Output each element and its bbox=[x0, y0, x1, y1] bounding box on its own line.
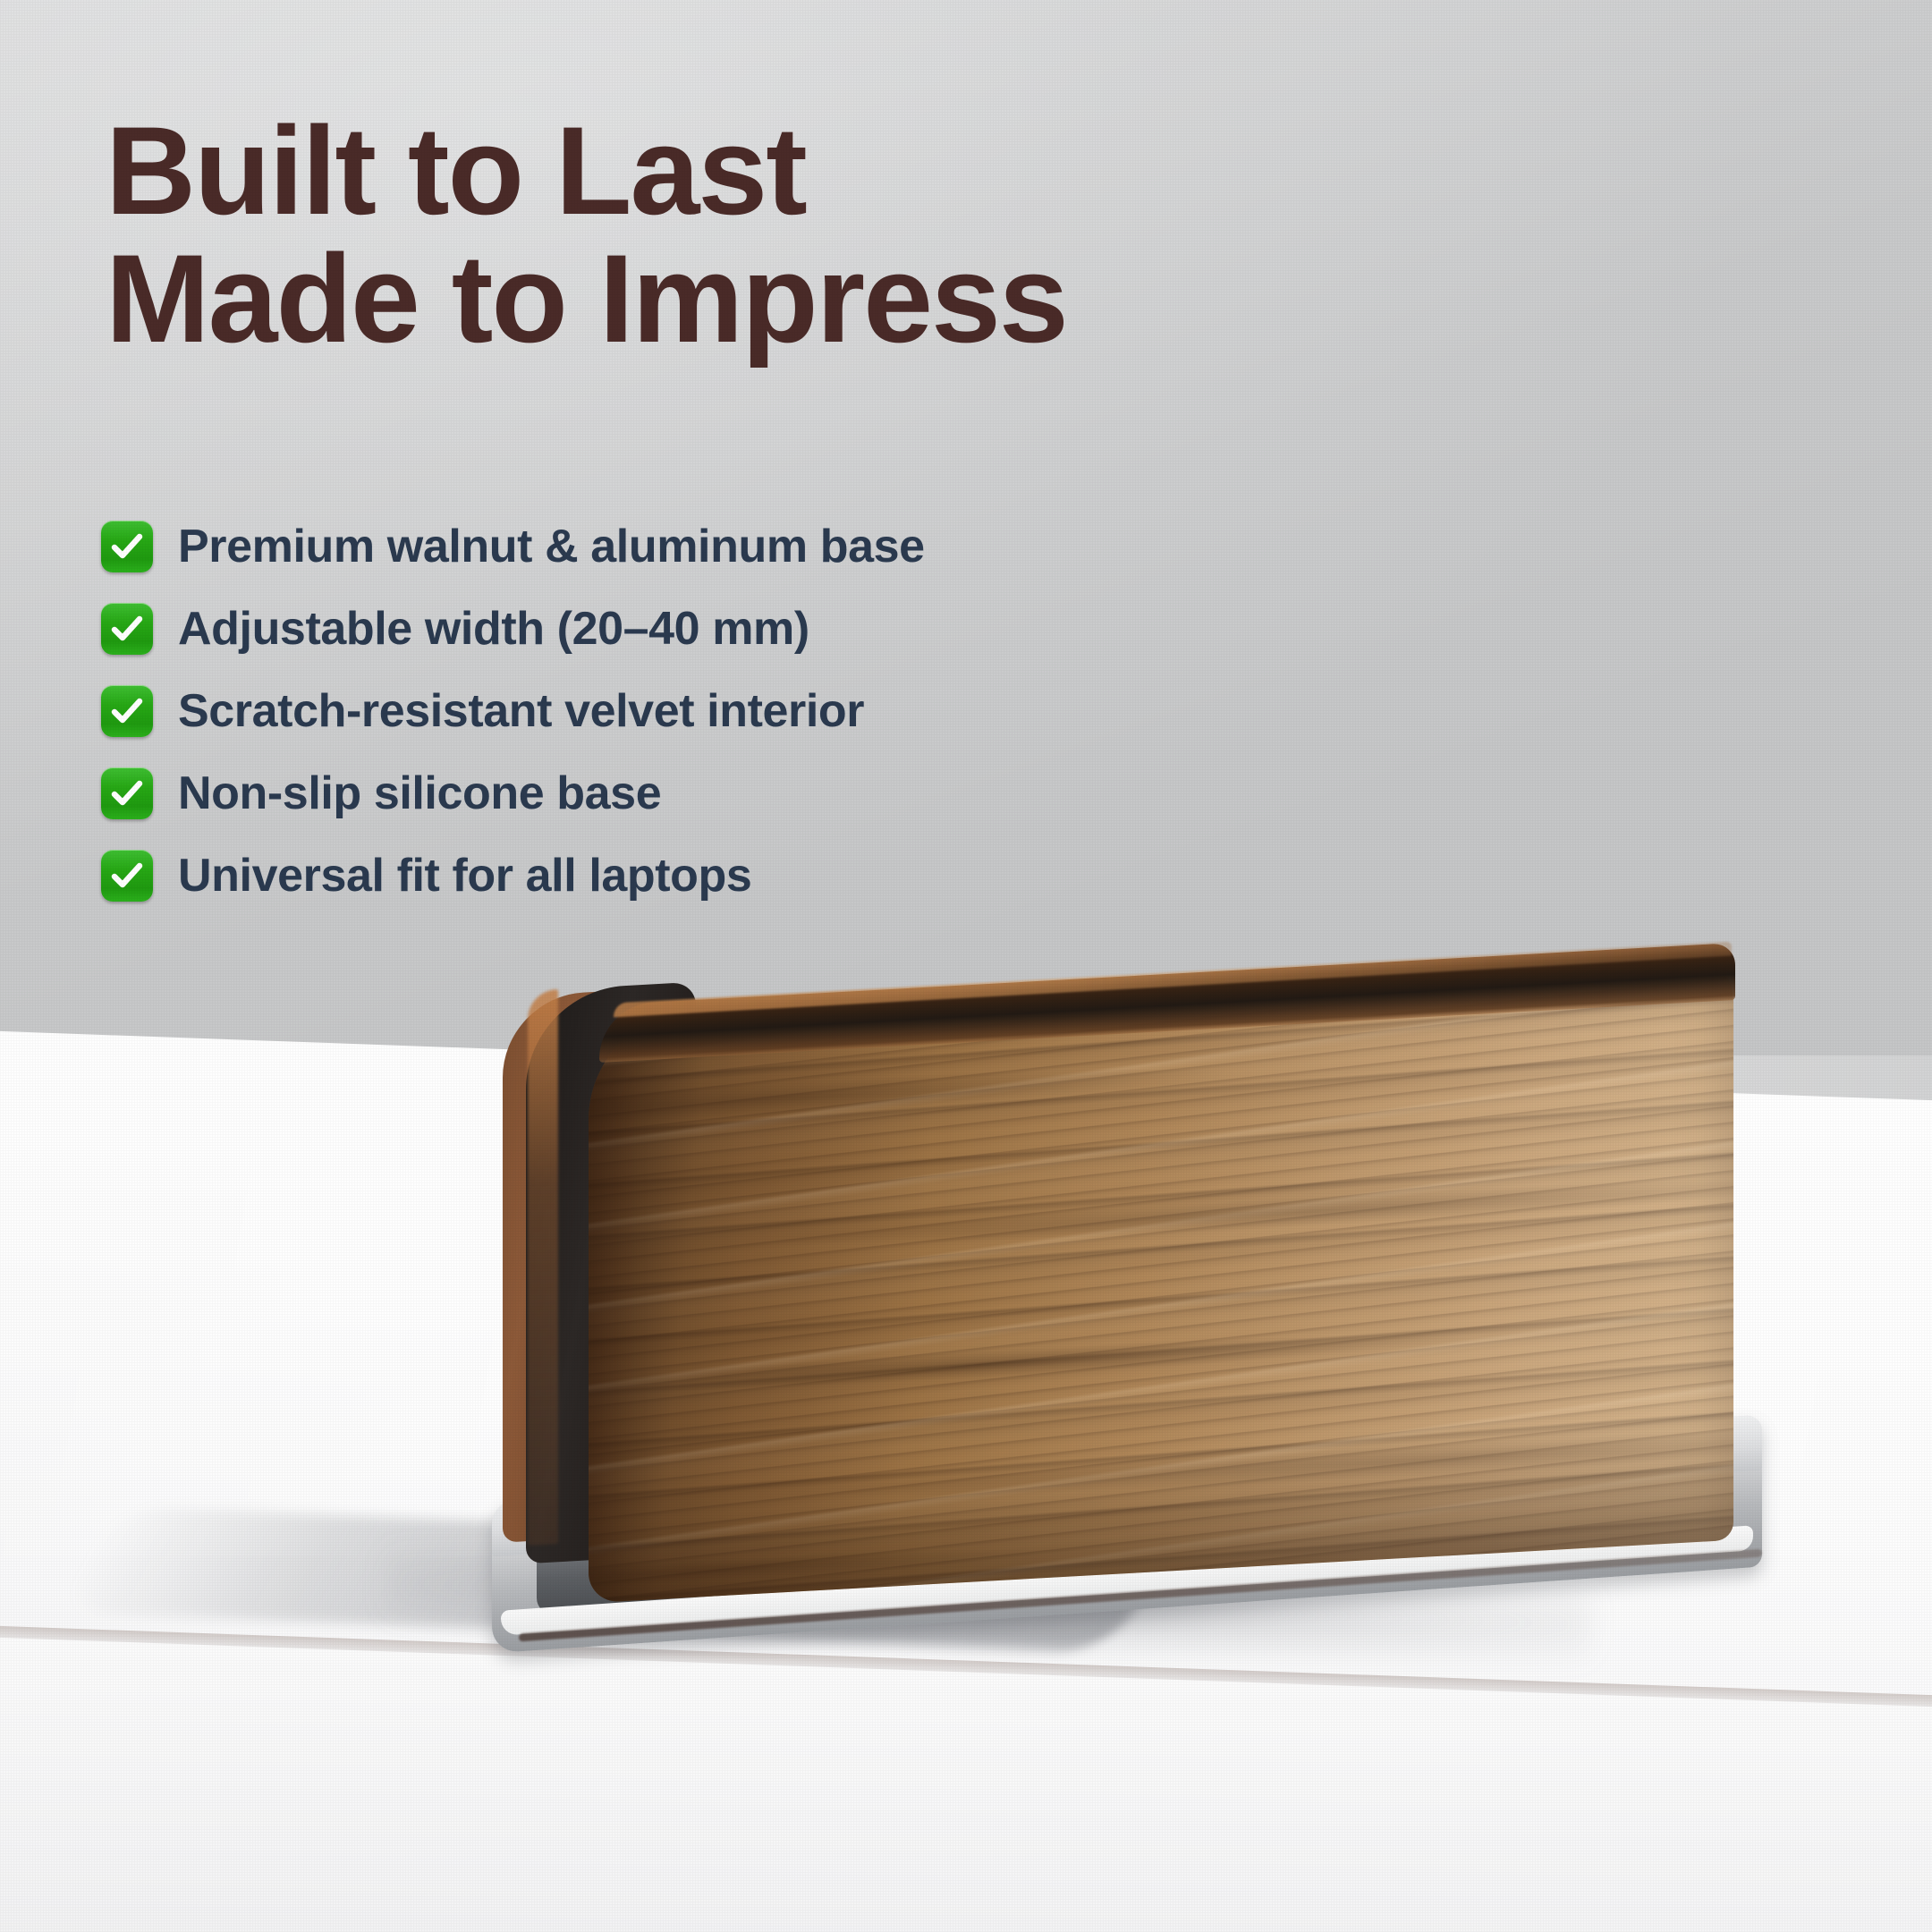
feature-label: Scratch-resistant velvet interior bbox=[178, 684, 864, 738]
product-image-walnut-laptop-stand bbox=[483, 970, 1851, 1722]
white-check-mark-icon bbox=[101, 767, 153, 819]
feature-list: Premium walnut & aluminum base Adjustabl… bbox=[101, 505, 1353, 917]
list-item: Scratch-resistant velvet interior bbox=[101, 670, 1353, 752]
page-title: Built to Last Made to Impress bbox=[106, 107, 1447, 363]
list-item: Premium walnut & aluminum base bbox=[101, 505, 1353, 588]
white-check-mark-icon bbox=[101, 685, 153, 737]
list-item: Universal fit for all laptops bbox=[101, 835, 1353, 917]
feature-label: Non-slip silicone base bbox=[178, 767, 661, 820]
white-check-mark-icon bbox=[101, 603, 153, 655]
feature-label: Universal fit for all laptops bbox=[178, 849, 751, 902]
channel-rim-highlight bbox=[528, 989, 558, 1546]
product-marketing-banner: Built to Last Made to Impress Premium wa… bbox=[0, 0, 1932, 1932]
white-check-mark-icon bbox=[101, 521, 153, 572]
feature-label: Adjustable width (20–40 mm) bbox=[178, 602, 809, 656]
list-item: Adjustable width (20–40 mm) bbox=[101, 588, 1353, 670]
feature-label: Premium walnut & aluminum base bbox=[178, 520, 925, 573]
white-check-mark-icon bbox=[101, 850, 153, 902]
list-item: Non-slip silicone base bbox=[101, 752, 1353, 835]
